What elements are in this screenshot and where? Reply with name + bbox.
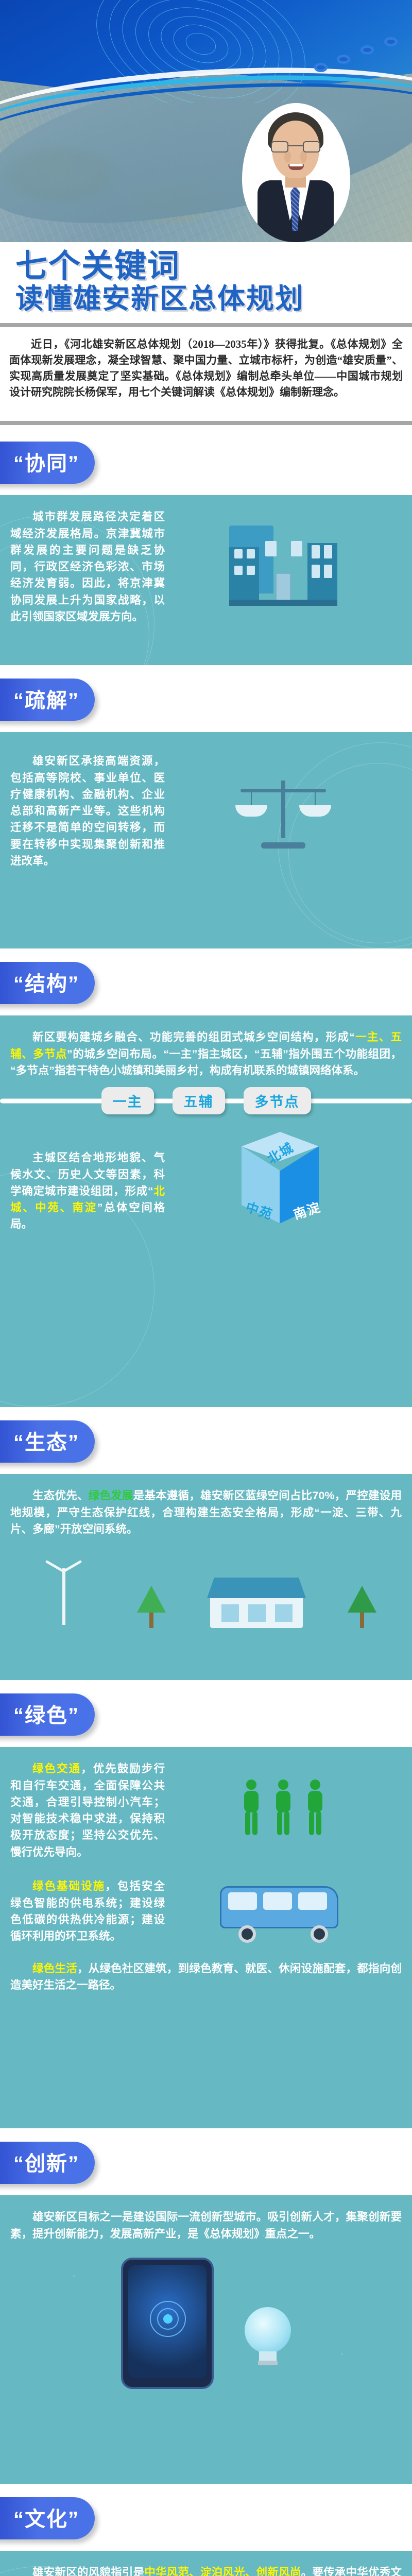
- wind-turbine-icon: [36, 1551, 92, 1628]
- section-header-shengtai: “生态”: [0, 1407, 412, 1474]
- section-body-jiegou: 新区要构建城乡融合、功能完善的组团式城乡空间结构，形成“一主、五辅、多节点”的城…: [0, 1015, 412, 1407]
- section-label-jiegou[interactable]: “结构”: [0, 962, 95, 1004]
- glasses-lens-right-icon: [303, 141, 320, 152]
- intro-paragraph: 近日，《河北雄安新区总体规划（2018—2035年）》获得批复。《总体规划》全面…: [0, 327, 412, 412]
- portrait-illustration: [256, 112, 335, 242]
- section-body-shengtai: 生态优先、绿色发展是基本遵循，雄安新区蓝绿空间占比70%，严控建设用地规模，严守…: [0, 1474, 412, 1680]
- node-wufu[interactable]: 五辅: [173, 1087, 225, 1114]
- tree-icon: [137, 1586, 166, 1628]
- section-body-xietong: 城市群发展路径决定着区域经济发展格局。京津冀城市群发展的主要问题是缺乏协同，行政…: [0, 495, 412, 665]
- pedestrians-icon: [165, 1780, 402, 1841]
- section-body-shujie: 雄安新区承接高端资源，包括高等院校、事业单位、医疗健康机构、金融机构、企业总部和…: [0, 732, 412, 948]
- section-header-lvse: “绿色”: [0, 1680, 412, 1747]
- intro-divider: [0, 421, 412, 425]
- section-header-shujie: “疏解”: [0, 665, 412, 732]
- section-text-jiegou-2: 主城区结合地形地貌、气候水文、历史人文等因素，科学确定城市建设组团，形成“北城、…: [10, 1149, 165, 1232]
- node-yizhu[interactable]: 一主: [101, 1087, 154, 1114]
- section-label-chuangxin[interactable]: “创新”: [0, 2142, 95, 2184]
- ring-dots-decoration: [314, 36, 407, 77]
- section-text-lvse-1: 绿色交通，优先鼓励步行和自行车交通，全面保障公共交通，合理引导控制小汽车；对智能…: [10, 1760, 165, 1860]
- title-divider: [0, 323, 412, 327]
- section-label-wenhua[interactable]: “文化”: [0, 2497, 95, 2539]
- page-title-line2: 读懂雄安新区总体规划: [0, 284, 412, 314]
- node-duojiedian[interactable]: 多节点: [244, 1087, 311, 1114]
- eco-house-icon: [210, 1571, 303, 1628]
- section-label-lvse[interactable]: “绿色”: [0, 1693, 95, 1736]
- section-text-wenhua: 雄安新区的风貌指引是中华风范、淀泊风光、创新风尚。要传承中华优秀文化基因的秀气、…: [10, 2564, 402, 2576]
- title-block: 七个关键词 读懂雄安新区总体规划 近日，《河北雄安新区总体规划（2018—203…: [0, 242, 412, 428]
- glasses-lens-left-icon: [271, 141, 288, 152]
- section-label-xietong[interactable]: “协同”: [0, 442, 95, 484]
- section-text-chuangxin: 雄安新区目标之一是建设国际一流创新型城市。吸引创新人才，集聚创新要素，提升创新能…: [10, 2209, 402, 2242]
- balance-scale-icon: [165, 767, 402, 855]
- mouth-shape: [288, 164, 304, 170]
- avatar: [242, 103, 350, 242]
- section-text-shengtai: 生态优先、绿色发展是基本遵循，雄安新区蓝绿空间占比70%，严控建设用地规模，严守…: [10, 1487, 402, 1537]
- page-title-line1: 七个关键词: [0, 249, 412, 283]
- structure-nodes-row: 一主 五辅 多节点: [0, 1087, 412, 1114]
- section-header-jiegou: “结构”: [0, 948, 412, 1015]
- city-building-icon: [165, 526, 402, 608]
- glasses-bridge-icon: [288, 145, 303, 146]
- section-header-xietong: “协同”: [0, 428, 412, 495]
- section-text-jiegou-1: 新区要构建城乡融合、功能完善的组团式城乡空间结构，形成“一主、五辅、多节点”的城…: [10, 1029, 402, 1079]
- section-text-shujie: 雄安新区承接高端资源，包括高等院校、事业单位、医疗健康机构、金融机构、企业总部和…: [10, 753, 165, 869]
- section-label-shengtai[interactable]: “生态”: [0, 1420, 95, 1463]
- section-text-lvse-3: 绿色生活，从绿色社区建筑，到绿色教育、就医、休闲设施配套，都指向创造美好生活之一…: [10, 1960, 402, 1994]
- tree-icon: [348, 1586, 376, 1628]
- section-body-lvse: 绿色交通，优先鼓励步行和自行车交通，全面保障公共交通，合理引导控制小汽车；对智能…: [0, 1747, 412, 2128]
- section-header-chuangxin: “创新”: [0, 2128, 412, 2195]
- cube-icon: 北城 中苑 南淀: [165, 1132, 402, 1250]
- section-label-shujie[interactable]: “疏解”: [0, 679, 95, 721]
- hero-banner: [0, 0, 412, 242]
- bus-icon: [165, 1873, 402, 1950]
- smartphone-tech-icon: [106, 2247, 229, 2402]
- section-text-xietong: 城市群发展路径决定着区域经济发展格局。京津冀城市群发展的主要问题是缺乏协同，行政…: [10, 509, 165, 625]
- section-body-wenhua: 雄安新区的风貌指引是中华风范、淀泊风光、创新风尚。要传承中华优秀文化基因的秀气、…: [0, 2551, 412, 2576]
- section-body-chuangxin: 雄安新区目标之一是建设国际一流创新型城市。吸引创新人才，集聚创新要素，提升创新能…: [0, 2195, 412, 2484]
- infographic-page: 七个关键词 读懂雄安新区总体规划 近日，《河北雄安新区总体规划（2018—203…: [0, 0, 412, 2576]
- lightbulb-icon: [229, 2304, 306, 2402]
- section-text-lvse-2: 绿色基础设施，包括安全绿色智能的供电系统；建设绿色低碳的供热供冷能源；建设循环利…: [10, 1878, 165, 1944]
- section-header-wenhua: “文化”: [0, 2484, 412, 2551]
